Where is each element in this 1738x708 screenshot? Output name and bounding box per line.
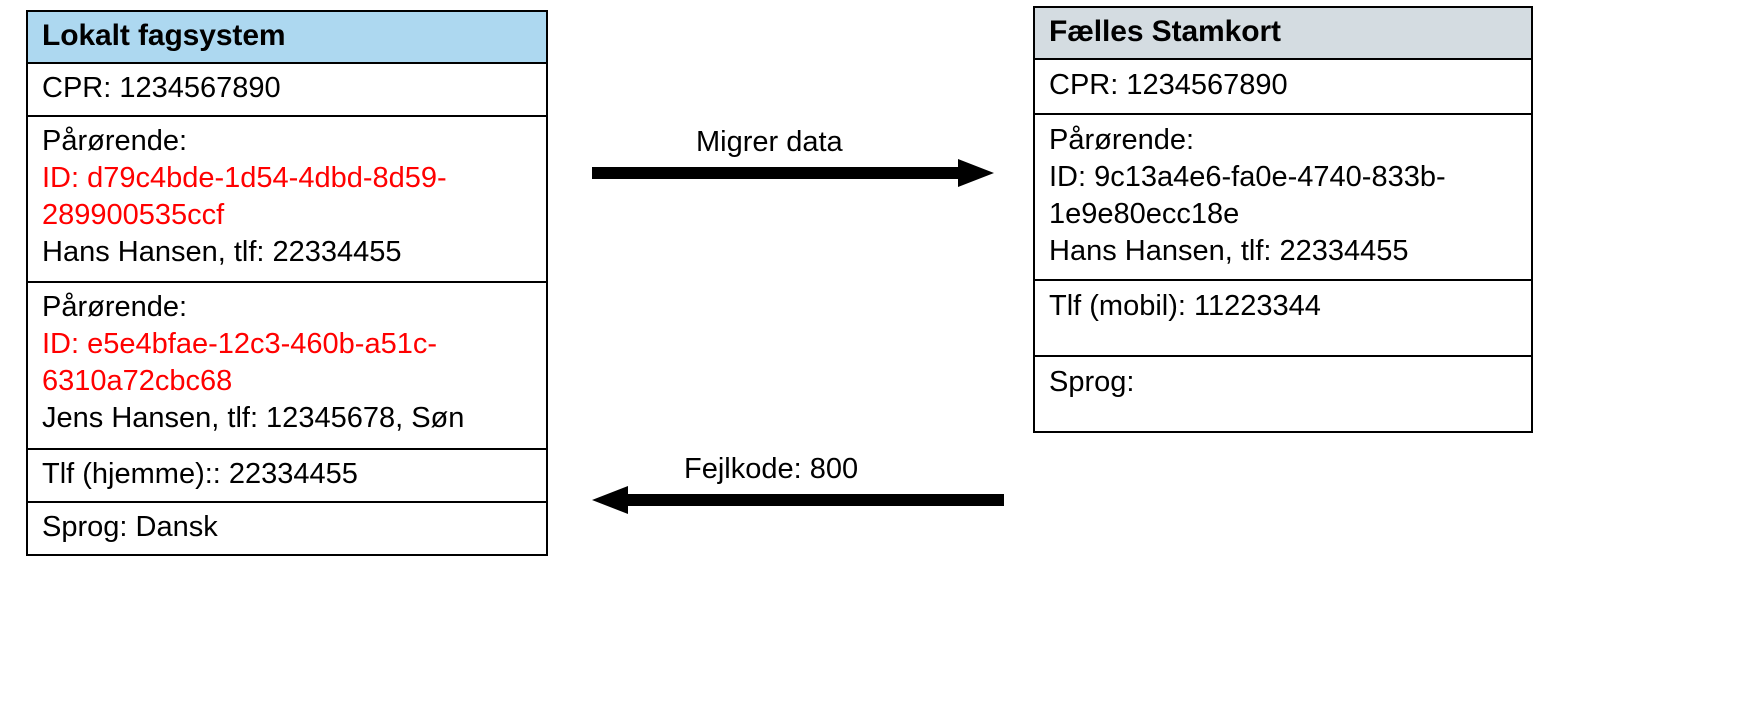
table-row: Tlf (hjemme):: 22334455 [28,450,546,503]
arrow-left-icon [592,486,1004,514]
error-code-arrow-label: Fejlkode: 800 [684,455,858,484]
home-phone-value: Tlf (hjemme):: 22334455 [42,456,546,493]
cpr-value: CPR: 1234567890 [42,70,546,107]
relative-label: Pårørende: [42,123,546,160]
table-row: Sprog: [1035,357,1531,431]
shared-stamkort-table-header: Fælles Stamkort [1035,8,1531,60]
language-value: Sprog: [1049,364,1531,401]
relative-id-part2: 289900535ccf [42,197,546,234]
relative-id-part2: 6310a72cbc68 [42,363,546,400]
error-code-arrow-group: Fejlkode: 800 [592,455,1004,515]
relative-id-part1: ID: 9c13a4e6-fa0e-4740-833b- [1049,159,1531,196]
table-row: Pårørende: ID: d79c4bde-1d54-4dbd-8d59- … [28,117,546,283]
migrate-data-arrow-label: Migrer data [696,128,843,157]
mobile-phone-value: Tlf (mobil): 11223344 [1049,288,1531,325]
relative-name-phone: Jens Hansen, tlf: 12345678, Søn [42,400,546,437]
relative-id-part1: ID: d79c4bde-1d54-4dbd-8d59- [42,160,546,197]
relative-label: Pårørende: [1049,122,1531,159]
relative-id-part2: 1e9e80ecc18e [1049,196,1531,233]
relative-id-part1: ID: e5e4bfae-12c3-460b-a51c- [42,326,546,363]
arrow-right-icon [592,159,994,187]
local-system-table: Lokalt fagsystem CPR: 1234567890 Pårøren… [26,10,548,556]
relative-name-phone: Hans Hansen, tlf: 22334455 [42,234,546,271]
language-value: Sprog: Dansk [42,509,546,546]
relative-label: Pårørende: [42,289,546,326]
relative-name-phone: Hans Hansen, tlf: 22334455 [1049,233,1531,270]
local-system-table-header: Lokalt fagsystem [28,12,546,64]
cpr-value: CPR: 1234567890 [1049,67,1531,104]
table-row: CPR: 1234567890 [28,64,546,117]
table-row: Pårørende: ID: 9c13a4e6-fa0e-4740-833b- … [1035,115,1531,281]
table-row: Tlf (mobil): 11223344 [1035,281,1531,357]
table-row: Sprog: Dansk [28,503,546,554]
table-row: CPR: 1234567890 [1035,60,1531,115]
table-row: Pårørende: ID: e5e4bfae-12c3-460b-a51c- … [28,283,546,449]
migrate-data-arrow-group: Migrer data [592,128,1002,188]
shared-stamkort-table: Fælles Stamkort CPR: 1234567890 Pårørend… [1033,6,1533,433]
